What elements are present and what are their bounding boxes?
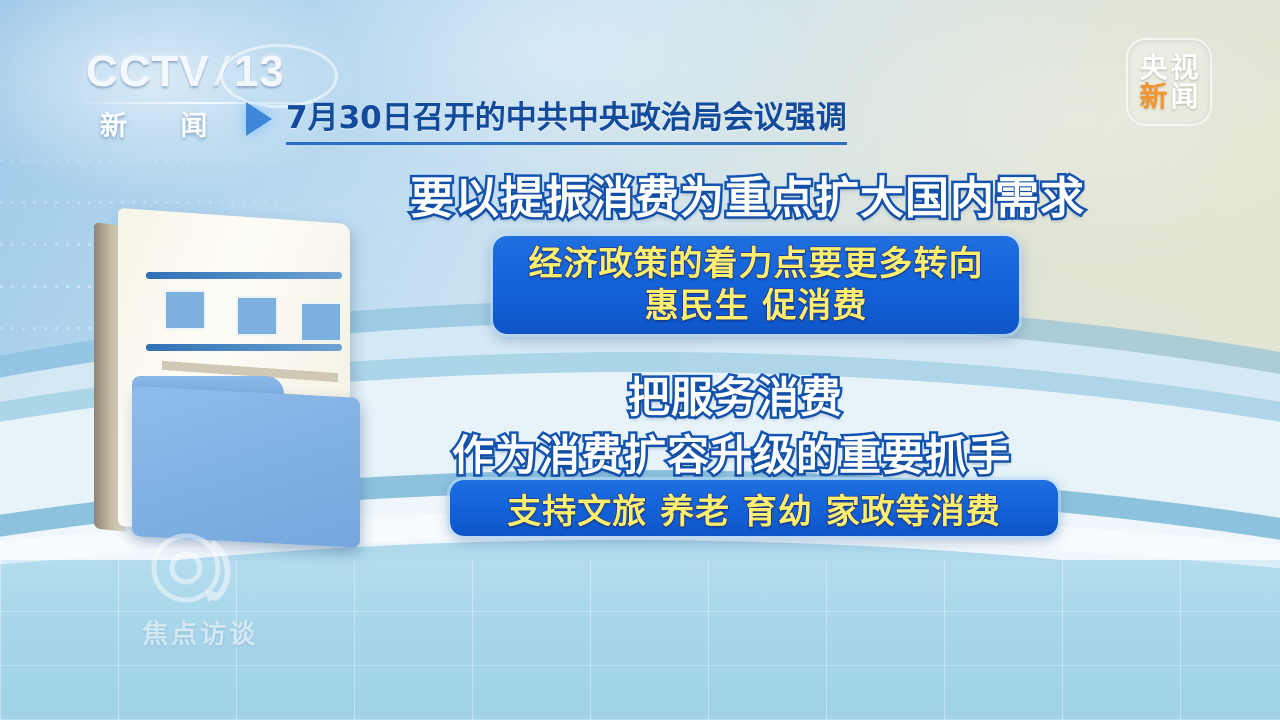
news-logo-char-shi: 视 [1171, 54, 1199, 82]
cctv-wordmark: CCTV [86, 50, 210, 94]
program-watermark: 焦点访谈 [110, 528, 290, 660]
folder-front [132, 386, 360, 548]
document-folder-illustration [88, 216, 388, 556]
news-logo-char-wen: 闻 [1171, 83, 1199, 111]
callout-2-line-1: 支持文旅 养老 育幼 家政等消费 [507, 484, 1001, 533]
news-logo-line-1: 央 视 [1139, 54, 1198, 82]
statement-1: 要以提振消费为重点扩大国内需求 [410, 162, 1085, 226]
document-rule [146, 344, 342, 351]
cctv-logo-row: CCTV / 13 [86, 50, 336, 94]
callout-1: 经济政策的着力点要更多转向 惠民生 促消费 [493, 236, 1019, 334]
news-logo-char-yang: 央 [1139, 54, 1167, 82]
statement-2: 把服务消费 [628, 364, 843, 425]
headline: 7月30日召开的中共中央政治局会议强调 [246, 92, 847, 145]
program-name: 焦点访谈 [110, 614, 290, 651]
callout-1-line-2: 惠民生 促消费 [645, 286, 868, 326]
cctv-news-app-logo: 央 视 新 闻 [1126, 38, 1212, 126]
callout-1-line-1: 经济政策的着力点要更多转向 [529, 244, 984, 284]
statement-3: 作为消费扩容升级的重要抓手 [452, 422, 1011, 483]
callout-2: 支持文旅 养老 育幼 家政等消费 [450, 480, 1058, 536]
news-logo-char-xin: 新 [1139, 83, 1167, 111]
document-thumbnail [236, 296, 278, 336]
play-triangle-icon [246, 102, 272, 136]
document-thumbnail [164, 290, 206, 330]
broadcast-frame: CCTV / 13 新 闻 央 视 新 闻 7月30日召开的中共中央政治局会议强… [0, 0, 1280, 720]
document-rule [146, 272, 342, 279]
news-logo-line-2: 新 闻 [1139, 83, 1198, 111]
swirl-circle-icon [128, 528, 248, 612]
document-thumbnail [300, 302, 342, 342]
headline-text: 7月30日召开的中共中央政治局会议强调 [286, 92, 847, 145]
